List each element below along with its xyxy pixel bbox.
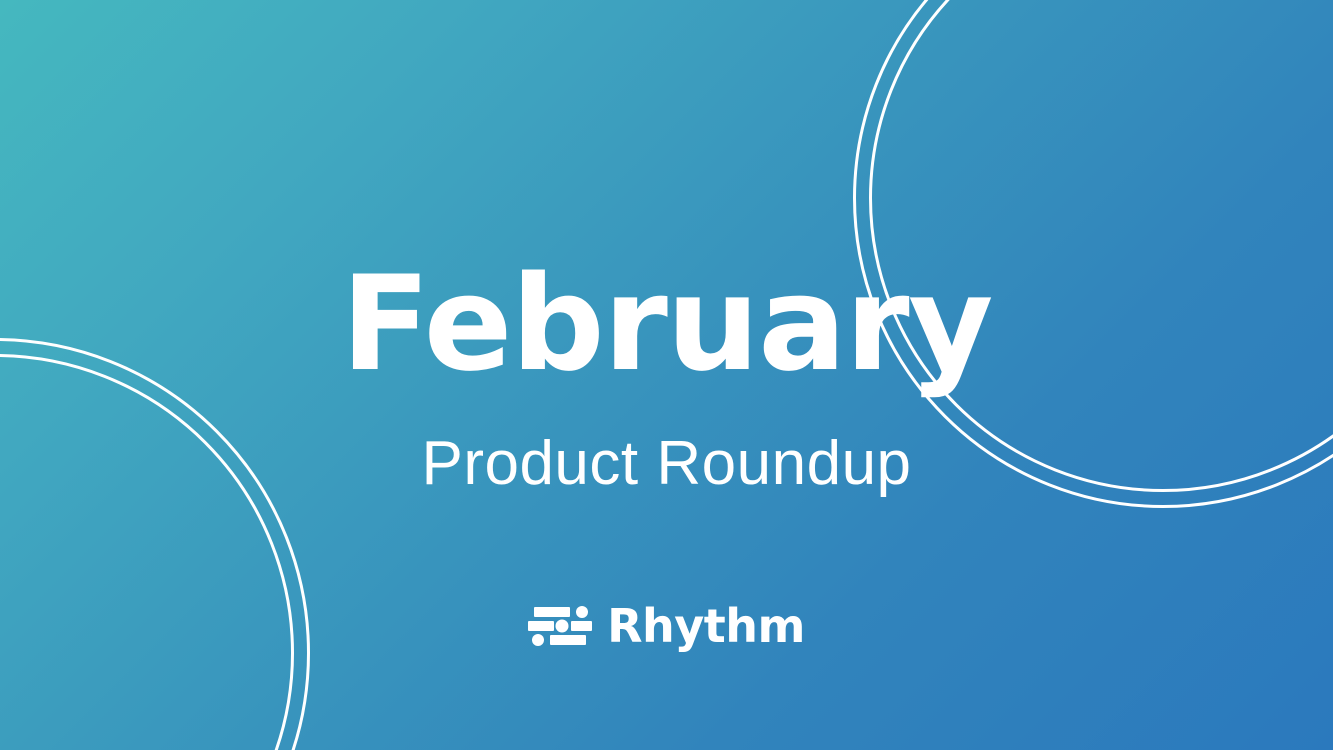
title-slide: February Product Roundup Rhythm: [0, 0, 1333, 750]
rhythm-bars-dots-mark-icon: [528, 606, 592, 646]
slide-subtitle: Product Roundup: [421, 433, 911, 495]
slide-title: February: [341, 258, 992, 389]
rhythm-logo: Rhythm: [528, 603, 805, 649]
rhythm-wordmark: Rhythm: [607, 603, 805, 649]
slide-content: February Product Roundup Rhythm: [0, 0, 1333, 750]
